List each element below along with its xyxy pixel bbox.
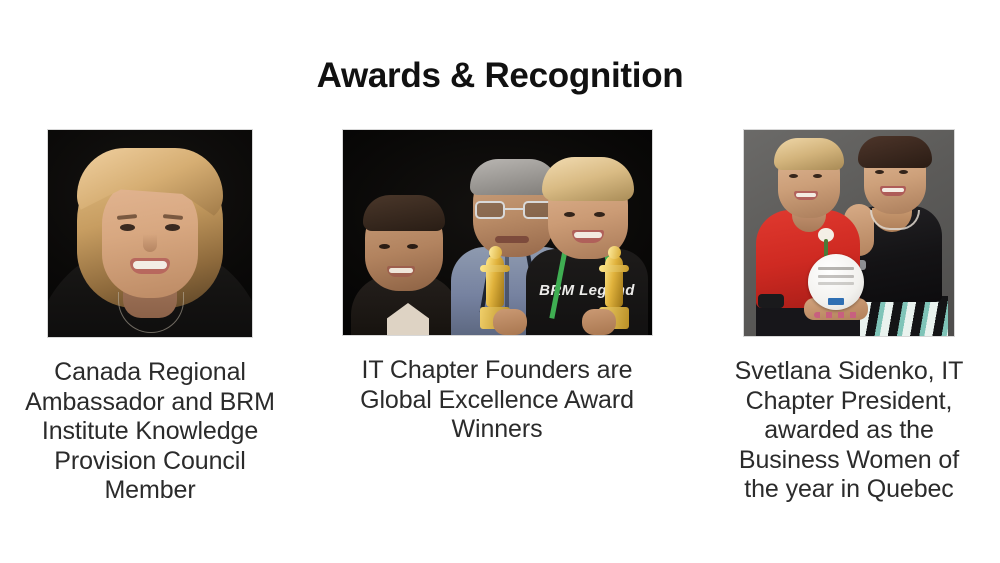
eye-right: [813, 174, 822, 178]
person-right-woman: BRM Legend: [526, 155, 648, 335]
photo-three-founders-with-trophies: BRM Legend: [342, 129, 653, 336]
eye-left: [564, 212, 575, 217]
hand-holding-trophy-center: [493, 309, 527, 335]
mouth-shape: [880, 186, 906, 196]
mouth-shape: [130, 258, 170, 274]
hair-shape: [542, 157, 634, 201]
award-caption: Canada Regional Ambassador and BRM Insti…: [24, 358, 276, 506]
award-plaque: [808, 254, 864, 310]
award-logo-chip: [828, 298, 844, 305]
mouth-shape: [572, 230, 604, 243]
sleeve-cuff: [758, 294, 784, 308]
hair-shape: [774, 138, 844, 170]
nose-shape: [143, 234, 157, 252]
lens-left: [475, 201, 505, 219]
hair-shape: [858, 136, 932, 168]
teeth-shape: [133, 261, 167, 269]
trophy-figure: [605, 255, 623, 307]
photo-two-women-with-award: [743, 129, 955, 337]
award-caption: IT Chapter Founders are Global Excellenc…: [332, 356, 662, 445]
awards-columns: Canada Regional Ambassador and BRM Insti…: [0, 129, 1000, 549]
shirt-text-brm-legend: BRM Legend: [526, 282, 648, 299]
mouth-shape: [387, 266, 415, 277]
award-item-svetlana-sidenko: Svetlana Sidenko, IT Chapter President, …: [743, 129, 955, 505]
eye-left: [875, 170, 884, 174]
person-left-man: [351, 185, 459, 335]
award-item-it-chapter-founders: BRM Legend: [342, 129, 653, 445]
hand-holding-trophy-right: [582, 309, 616, 335]
eye-right: [407, 244, 418, 249]
eye-right: [165, 224, 180, 231]
page-title: Awards & Recognition: [0, 54, 1000, 98]
eye-left: [120, 224, 135, 231]
eye-left: [789, 174, 798, 178]
eye-left: [379, 244, 390, 249]
eye-right: [594, 212, 605, 217]
hair-shape: [363, 195, 445, 231]
award-item-canada-regional-ambassador: Canada Regional Ambassador and BRM Insti…: [47, 129, 253, 506]
glasses-bridge: [505, 208, 523, 210]
eye-right: [899, 170, 908, 174]
mouth-shape: [794, 191, 818, 200]
trophy-figure: [486, 255, 504, 307]
award-engraving: [818, 267, 854, 270]
award-caption: Svetlana Sidenko, IT Chapter President, …: [724, 357, 974, 505]
slide-awards-recognition: Awards & Recognition Canada: [0, 0, 1000, 563]
fingernails-shape: [814, 312, 858, 318]
photo-headshot-blonde-woman: [47, 129, 253, 338]
mouth-shape: [495, 236, 529, 243]
